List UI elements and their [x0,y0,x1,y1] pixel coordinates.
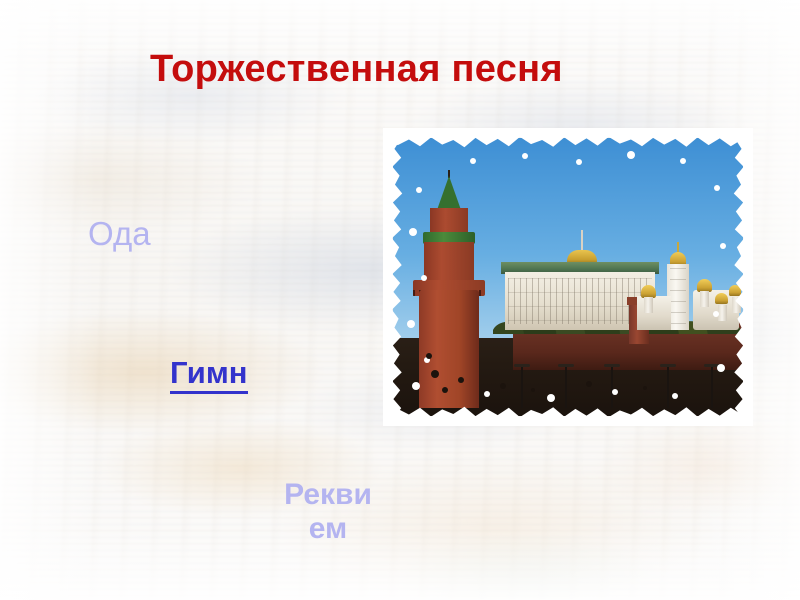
photo-clip [383,128,753,426]
cathedral-block-left [637,296,671,330]
kremlin-photo [383,128,753,426]
tower-base [419,290,479,408]
street-lamp-1 [521,366,523,408]
term-gimn-link[interactable]: Гимн [170,356,248,394]
term-requiem: Реквием [278,478,378,545]
street-lamp-3 [611,366,613,408]
page-title: Торжественная песня [150,48,670,92]
tower-green-spire [437,176,461,210]
vodovzvodnaya-tower [411,176,487,408]
cupola-2 [697,279,712,292]
cupola-drum-3 [718,305,727,321]
term-oda: Ода [88,216,151,253]
tower-mid-tier [424,242,474,282]
slide: Торжественная песня Ода Гимн Реквием [0,0,800,600]
tower-upper-tier [430,208,468,234]
cupola-drum-2 [700,291,709,307]
photo-canvas [393,138,743,416]
cupola-4 [729,285,741,296]
street-lamp-4 [667,366,669,408]
cupola-3 [715,293,728,304]
palace-flagpole [581,230,583,252]
cupola-drum-1 [644,297,653,313]
cupola-1 [641,285,656,298]
street-lamp-2 [565,366,567,408]
cupola-drum-4 [732,297,741,313]
street-lamp-5 [711,366,713,408]
